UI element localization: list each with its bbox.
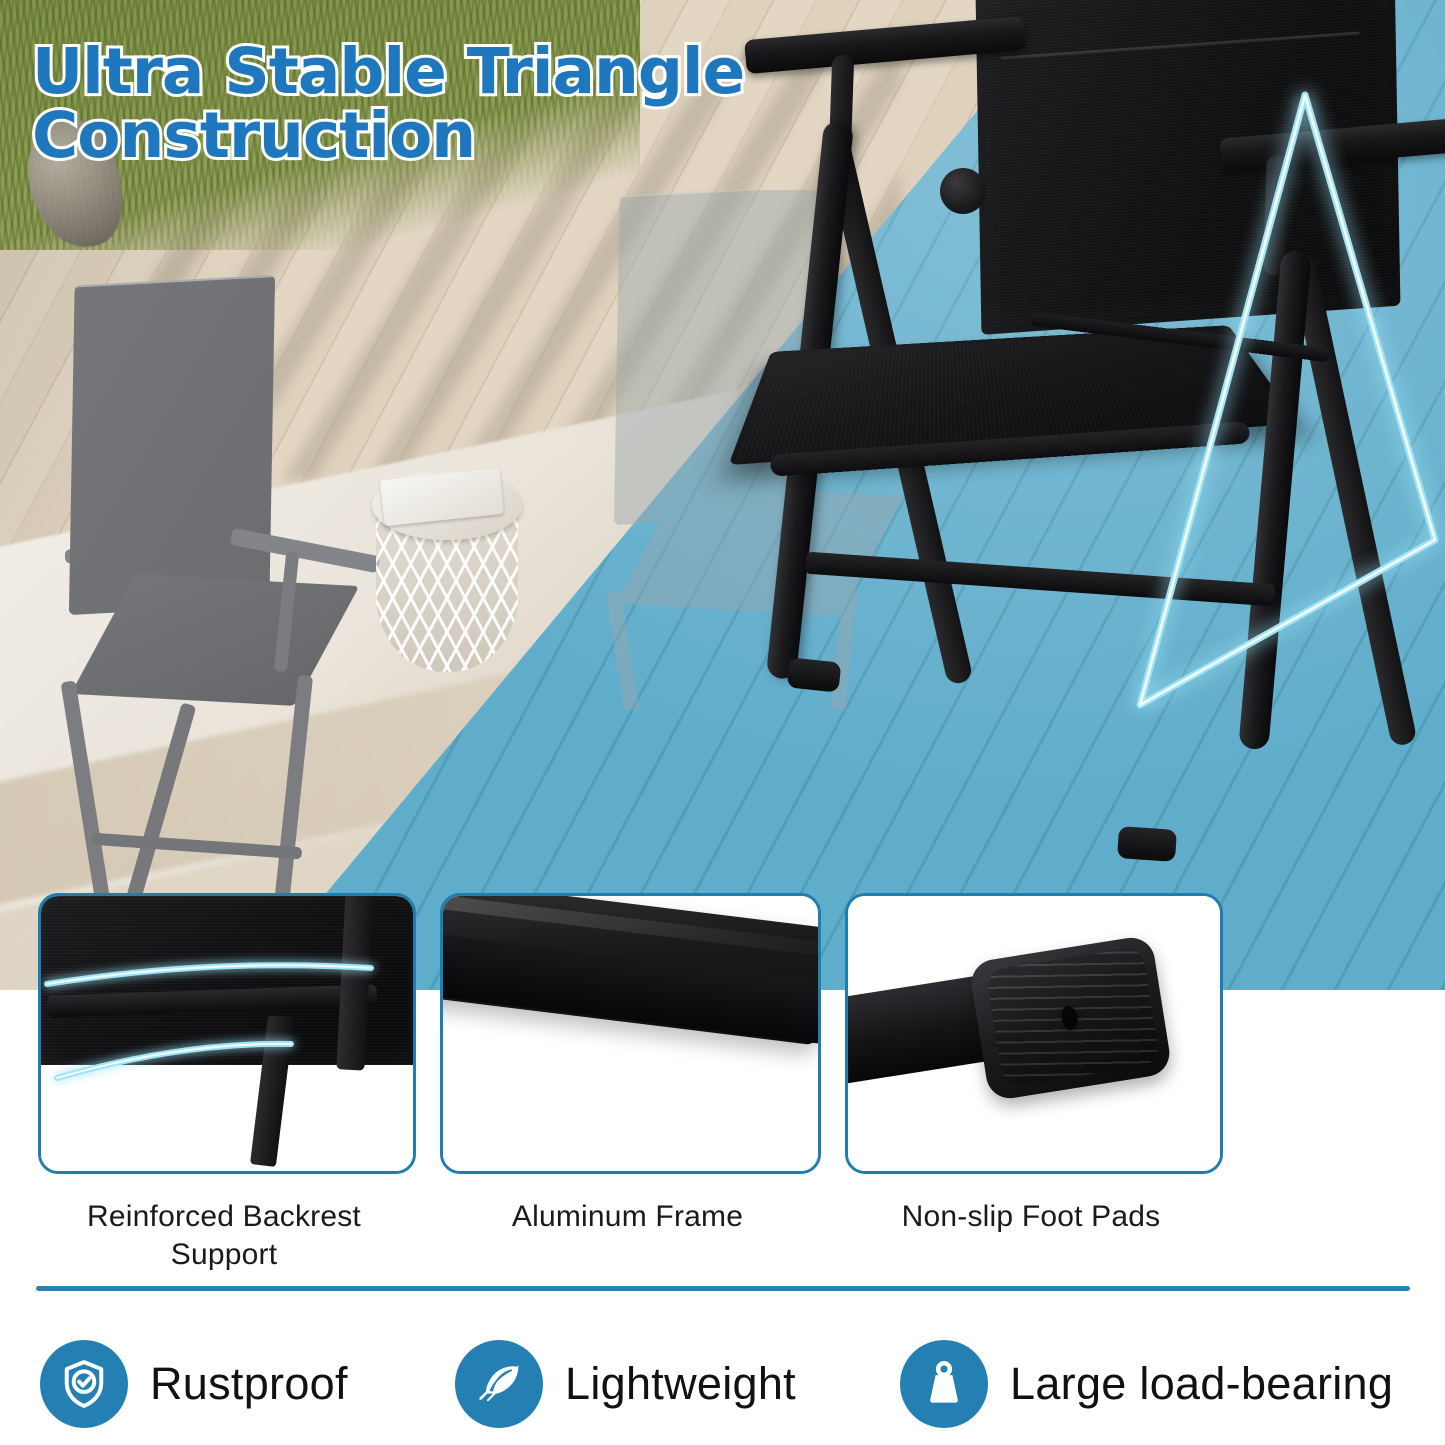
page-title: Ultra Stable Triangle Construction <box>32 40 812 169</box>
benefit-load-bearing: Large load-bearing <box>900 1336 1393 1432</box>
benefit-rustproof: Rustproof <box>40 1336 348 1432</box>
feature-card-frame <box>440 893 821 1174</box>
benefit-lightweight: Lightweight <box>455 1336 796 1432</box>
benefit-badge-row: Rustproof Lightweight Large load-bearing <box>0 1336 1445 1436</box>
benefit-label-rustproof: Rustproof <box>150 1358 348 1410</box>
weight-icon <box>900 1340 988 1428</box>
feather-icon <box>455 1340 543 1428</box>
feature-card-foot-pad <box>845 893 1223 1174</box>
shield-check-icon <box>40 1340 128 1428</box>
wire-side-table <box>370 470 530 700</box>
benefit-label-lightweight: Lightweight <box>565 1358 796 1410</box>
benefit-label-load-bearing: Large load-bearing <box>1010 1358 1393 1410</box>
feature-caption-frame: Aluminum Frame <box>440 1198 815 1236</box>
title-line-2: Construction <box>32 104 812 168</box>
title-line-1: Ultra Stable Triangle <box>32 40 812 104</box>
section-divider <box>36 1286 1410 1291</box>
feature-card-row <box>0 893 1445 1193</box>
feature-caption-foot-pads: Non-slip Foot Pads <box>845 1198 1217 1236</box>
feature-caption-backrest: Reinforced Backrest Support <box>38 1198 410 1275</box>
grey-folding-chair <box>30 280 390 840</box>
hero-image: Ultra Stable Triangle Construction <box>0 0 1445 990</box>
feature-card-backrest <box>38 893 416 1174</box>
backrest-glow-curves <box>41 896 413 1171</box>
